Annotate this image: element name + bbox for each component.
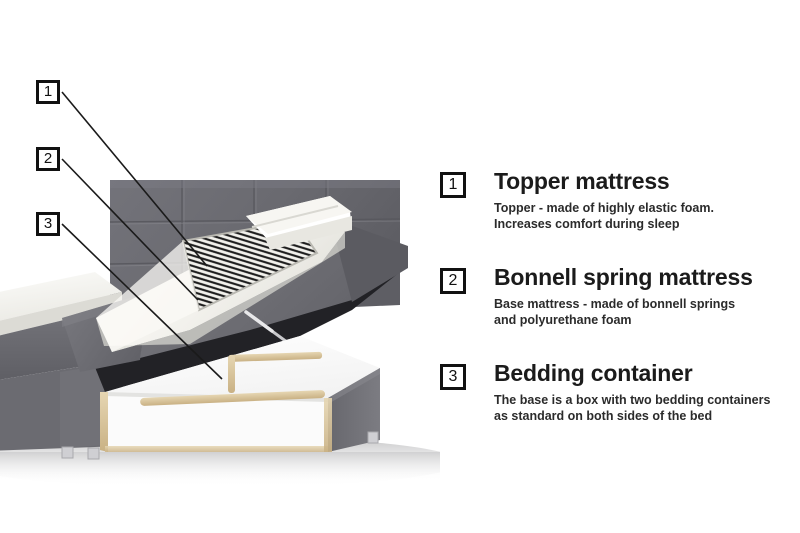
infographic-page: 1 2 3 1 Topper mattress Topper - made of… <box>0 0 800 533</box>
legend-description: Base mattress - made of bonnell springs … <box>494 296 800 328</box>
legend-text-block: Bedding container The base is a box with… <box>494 360 800 424</box>
legend-item-bedding-container: 3 Bedding container The base is a box wi… <box>438 360 800 424</box>
legend-description: Topper - made of highly elastic foam. In… <box>494 200 800 232</box>
legend-title: Topper mattress <box>494 168 800 194</box>
callout-badge-3: 3 <box>36 212 60 236</box>
legend-text-block: Topper mattress Topper - made of highly … <box>494 168 800 232</box>
legend-description: The base is a box with two bedding conta… <box>494 392 800 424</box>
callout-badge-1: 1 <box>36 80 60 104</box>
legend-badge-1: 1 <box>440 172 466 198</box>
product-illustration: 1 2 3 <box>0 0 440 533</box>
callout-badge-2: 2 <box>36 147 60 171</box>
legend-text-block: Bonnell spring mattress Base mattress - … <box>494 264 800 328</box>
legend-item-bonnell-spring-mattress: 2 Bonnell spring mattress Base mattress … <box>438 264 800 328</box>
legend-badge-3: 3 <box>440 364 466 390</box>
legend-badge-2: 2 <box>440 268 466 294</box>
legend-panel: 1 Topper mattress Topper - made of highl… <box>438 0 800 533</box>
legend-item-topper-mattress: 1 Topper mattress Topper - made of highl… <box>438 168 800 232</box>
legend-title: Bedding container <box>494 360 800 386</box>
legend-title: Bonnell spring mattress <box>494 264 800 290</box>
